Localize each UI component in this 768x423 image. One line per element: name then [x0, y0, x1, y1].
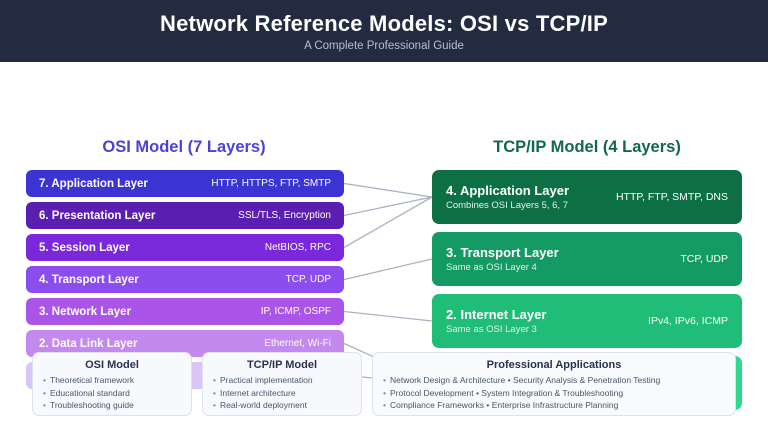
tcp-layer-row[interactable]: 2. Internet LayerSame as OSI Layer 3IPv4… [432, 294, 742, 348]
osi-layer-protocols: HTTP, HTTPS, FTP, SMTP [211, 178, 331, 189]
summary-card-list: Practical implementationInternet archite… [213, 374, 351, 412]
tcp-layer-name: 2. Internet Layer [446, 307, 546, 322]
tcp-layer-protocols: HTTP, FTP, SMTP, DNS [616, 191, 728, 203]
connector-line [344, 197, 432, 216]
osi-layer-protocols: TCP, UDP [286, 274, 331, 285]
tcp-layer-row[interactable]: 4. Application LayerCombines OSI Layers … [432, 170, 742, 224]
tcp-layer-name: 4. Application Layer [446, 183, 569, 198]
tcp-layer-protocols: IPv4, IPv6, ICMP [648, 315, 728, 327]
osi-layer-row[interactable]: 4. Transport LayerTCP, UDP [26, 266, 344, 293]
tcp-layer-row[interactable]: 3. Transport LayerSame as OSI Layer 4TCP… [432, 232, 742, 286]
summary-card-item: Real-world deployment [213, 399, 351, 412]
page-title: Network Reference Models: OSI vs TCP/IP [160, 11, 608, 37]
connector-line [344, 312, 432, 322]
osi-layer-row[interactable]: 5. Session LayerNetBIOS, RPC [26, 234, 344, 261]
tcp-layer-name: 3. Transport Layer [446, 245, 559, 260]
osi-layer-row[interactable]: 7. Application LayerHTTP, HTTPS, FTP, SM… [26, 170, 344, 197]
summary-card-item: Theoretical framework [43, 374, 181, 387]
osi-layer-row[interactable]: 3. Network LayerIP, ICMP, OSPF [26, 298, 344, 325]
summary-card-title: OSI Model [43, 359, 181, 371]
summary-card: OSI ModelTheoretical frameworkEducationa… [32, 352, 192, 416]
summary-card: TCP/IP ModelPractical implementationInte… [202, 352, 362, 416]
summary-card-item: Troubleshooting guide [43, 399, 181, 412]
page-subtitle: A Complete Professional Guide [304, 40, 464, 52]
osi-layer-name: 4. Transport Layer [39, 274, 139, 286]
summary-card: Professional ApplicationsNetwork Design … [372, 352, 736, 416]
summary-card-item: Network Design & Architecture • Security… [383, 374, 725, 387]
summary-card-list: Theoretical frameworkEducational standar… [43, 374, 181, 412]
summary-card-item: Educational standard [43, 387, 181, 400]
connector-line [344, 184, 432, 198]
summary-card-item: Internet architecture [213, 387, 351, 400]
connector-line [344, 197, 432, 248]
osi-layer-name: 6. Presentation Layer [39, 210, 155, 222]
osi-layer-protocols: Ethernet, Wi-Fi [264, 338, 331, 349]
tcp-layer-note: Same as OSI Layer 4 [446, 262, 559, 273]
osi-layer-name: 2. Data Link Layer [39, 338, 137, 350]
osi-layer-protocols: SSL/TLS, Encryption [238, 210, 331, 221]
summary-card-title: TCP/IP Model [213, 359, 351, 371]
osi-layer-protocols: NetBIOS, RPC [265, 242, 331, 253]
osi-layer-name: 5. Session Layer [39, 242, 130, 254]
osi-layer-protocols: IP, ICMP, OSPF [261, 306, 331, 317]
tcp-layer-note: Combines OSI Layers 5, 6, 7 [446, 200, 569, 211]
connector-line [344, 259, 432, 280]
summary-card-title: Professional Applications [383, 359, 725, 371]
osi-layer-name: 7. Application Layer [39, 178, 148, 190]
tcp-layer-protocols: TCP, UDP [680, 253, 728, 265]
summary-cards: OSI ModelTheoretical frameworkEducationa… [0, 352, 768, 423]
summary-card-item: Protocol Development • System Integratio… [383, 387, 725, 400]
page-header: Network Reference Models: OSI vs TCP/IP … [0, 0, 768, 62]
summary-card-list: Network Design & Architecture • Security… [383, 374, 725, 412]
summary-card-item: Practical implementation [213, 374, 351, 387]
tcp-layer-note: Same as OSI Layer 3 [446, 324, 546, 335]
osi-layer-name: 3. Network Layer [39, 306, 131, 318]
summary-card-item: Compliance Frameworks • Enterprise Infra… [383, 399, 725, 412]
osi-layer-row[interactable]: 6. Presentation LayerSSL/TLS, Encryption [26, 202, 344, 229]
